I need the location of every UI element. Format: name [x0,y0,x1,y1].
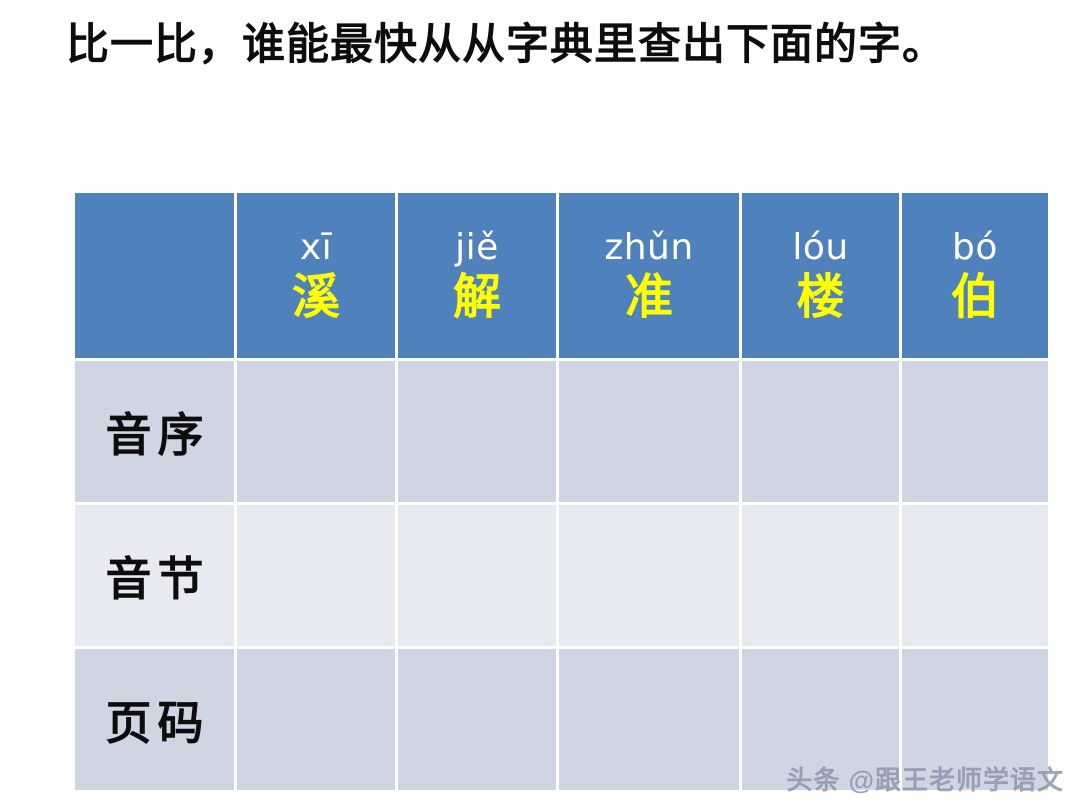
table-header-cell-zhun: zhǔn 准 [559,193,742,361]
dictionary-lookup-table: xī 溪 jiě 解 zhǔn 准 lóu 楼 bó 伯 [75,193,1048,784]
table-header-cell-bo: bó 伯 [902,193,1048,361]
table-header: xī 溪 jiě 解 zhǔn 准 lóu 楼 bó 伯 [75,193,1048,361]
character-jie: 解 [398,274,556,322]
table-header-cell-xi: xī 溪 [237,193,398,361]
pinyin-lou: lóu [742,230,899,266]
character-bo: 伯 [902,274,1048,322]
lookup-table: xī 溪 jiě 解 zhǔn 准 lóu 楼 bó 伯 [75,193,1048,790]
answer-cell-yinxu-lou[interactable] [742,361,902,505]
table-row: 音序 [75,361,1048,505]
answer-cell-yema-zhun[interactable] [559,649,742,790]
character-zhun: 准 [559,274,739,322]
answer-cell-yinxu-bo[interactable] [902,361,1048,505]
answer-cell-yinxu-xi[interactable] [237,361,398,505]
page-title: 比一比，谁能最快从从字典里查出下面的字。 [66,18,1016,73]
row-label-yinjie: 音节 [75,505,237,649]
pinyin-jie: jiě [398,230,556,266]
answer-cell-yinjie-bo[interactable] [902,505,1048,649]
answer-cell-yema-xi[interactable] [237,649,398,790]
answer-cell-yema-lou[interactable] [742,649,902,790]
table-header-cell-lou: lóu 楼 [742,193,902,361]
row-label-yema: 页码 [75,649,237,790]
table-row: 页码 [75,649,1048,790]
pinyin-zhun: zhǔn [559,230,739,266]
answer-cell-yinxu-zhun[interactable] [559,361,742,505]
answer-cell-yema-jie[interactable] [398,649,559,790]
table-header-row: xī 溪 jiě 解 zhǔn 准 lóu 楼 bó 伯 [75,193,1048,361]
answer-cell-yinjie-zhun[interactable] [559,505,742,649]
row-label-yinxu: 音序 [75,361,237,505]
answer-cell-yinjie-jie[interactable] [398,505,559,649]
pinyin-bo: bó [902,230,1048,266]
table-body: 音序 音节 页码 [75,361,1048,790]
table-row: 音节 [75,505,1048,649]
answer-cell-yinjie-lou[interactable] [742,505,902,649]
answer-cell-yinjie-xi[interactable] [237,505,398,649]
character-lou: 楼 [742,274,899,322]
table-header-cell-jie: jiě 解 [398,193,559,361]
table-corner-header [75,193,237,361]
character-xi: 溪 [237,274,395,322]
pinyin-xi: xī [237,230,395,266]
answer-cell-yema-bo[interactable] [902,649,1048,790]
answer-cell-yinxu-jie[interactable] [398,361,559,505]
